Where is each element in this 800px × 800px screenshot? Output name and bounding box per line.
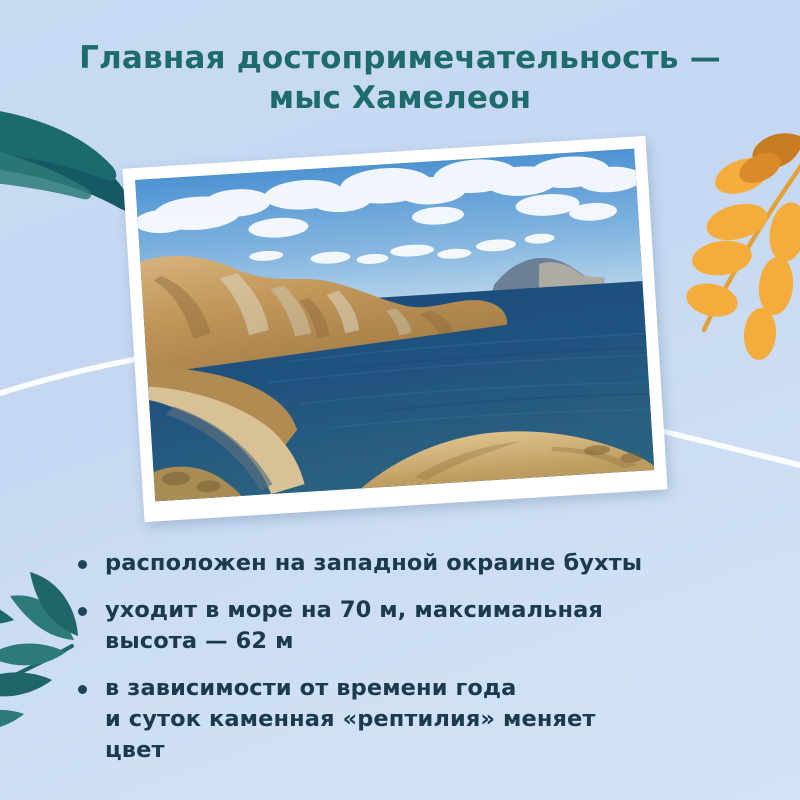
slide-title: Главная достопримечательность — мыс Хаме… xyxy=(0,38,800,119)
slide-canvas: Главная достопримечательность — мыс Хаме… xyxy=(0,0,800,800)
list-item: уходит в море на 70 м, максимальная высо… xyxy=(78,595,778,657)
list-item: в зависимости от времени года и суток ка… xyxy=(78,673,778,766)
list-item-label: в зависимости от времени года и суток ка… xyxy=(105,673,596,766)
bullet-dot-icon xyxy=(78,685,87,694)
gold-branch-top-right xyxy=(683,133,800,361)
list-item-label: расположен на западной окраине бухты xyxy=(105,548,642,579)
list-item-label: уходит в море на 70 м, максимальная высо… xyxy=(105,595,603,657)
green-branch-bottom-left xyxy=(0,572,78,730)
bullet-list: расположен на западной окраине бухты ухо… xyxy=(78,548,778,782)
teal-crescent-top-left xyxy=(0,105,131,211)
photo-image xyxy=(135,149,654,502)
bullet-dot-icon xyxy=(78,607,87,616)
bullet-dot-icon xyxy=(78,560,87,569)
list-item: расположен на западной окраине бухты xyxy=(78,548,778,579)
photo-card xyxy=(122,136,667,522)
